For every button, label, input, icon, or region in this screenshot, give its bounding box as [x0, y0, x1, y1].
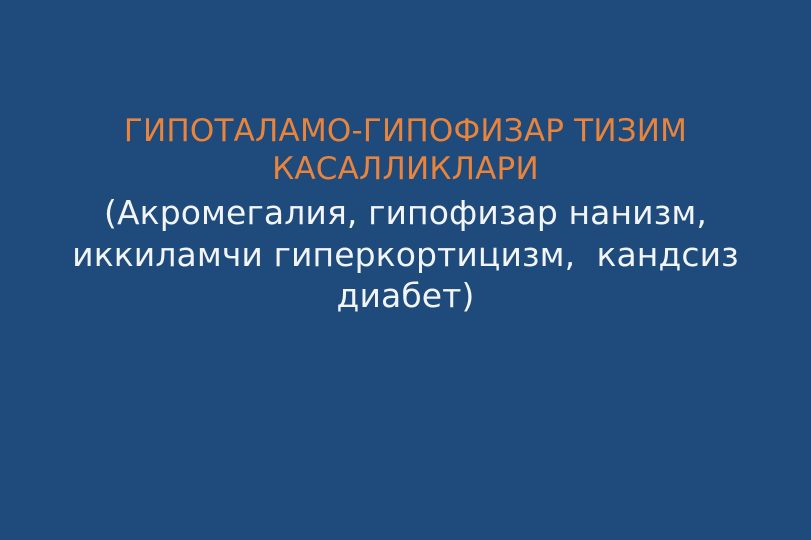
slide-content-block: ГИПОТАЛАМО-ГИПОФИЗАР ТИЗИМ КАСАЛЛИКЛАРИ … — [0, 112, 811, 317]
slide-subtitle-line-3: диабет) — [0, 275, 811, 317]
slide-title-line-1: ГИПОТАЛАМО-ГИПОФИЗАР ТИЗИМ — [0, 112, 811, 150]
slide-title-line-2: КАСАЛЛИКЛАРИ — [0, 150, 811, 188]
slide-subtitle: (Акромегалия, гипофизар нанизм, иккиламч… — [0, 192, 811, 317]
slide-subtitle-line-1: (Акромегалия, гипофизар нанизм, — [0, 192, 811, 234]
slide-subtitle-line-2: иккиламчи гиперкортицизм, кандсиз — [0, 234, 811, 276]
slide-title: ГИПОТАЛАМО-ГИПОФИЗАР ТИЗИМ КАСАЛЛИКЛАРИ — [0, 112, 811, 188]
presentation-slide: ГИПОТАЛАМО-ГИПОФИЗАР ТИЗИМ КАСАЛЛИКЛАРИ … — [0, 0, 811, 540]
